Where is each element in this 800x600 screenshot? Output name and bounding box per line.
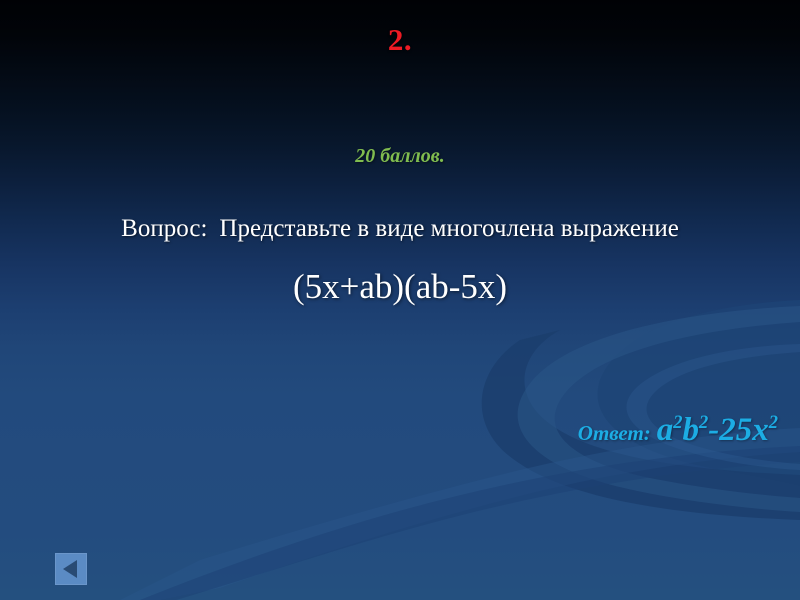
- answer-base-b: b: [683, 412, 700, 448]
- answer-exponent-b: 2: [699, 412, 708, 432]
- question-text: Представьте в виде многочлена выражение: [219, 215, 678, 242]
- question-line: Вопрос:Представьте в виде многочлена выр…: [0, 215, 800, 243]
- answer-line: Ответ:a2b2-25x2: [578, 412, 778, 449]
- answer-label: Ответ:: [578, 421, 651, 445]
- presentation-slide: 2. 20 баллов. Вопрос:Представьте в виде …: [0, 0, 800, 600]
- answer-value: a2b2-25x2: [657, 412, 778, 448]
- page-title: 2.: [0, 22, 800, 58]
- back-button[interactable]: [55, 553, 87, 585]
- back-triangle-icon: [63, 560, 77, 578]
- answer-base-x: x: [752, 412, 769, 448]
- answer-middle-term: -25: [708, 412, 752, 448]
- answer-base-a: a: [657, 412, 674, 448]
- answer-exponent-x: 2: [769, 412, 778, 432]
- score-label: 20 баллов.: [0, 145, 800, 168]
- answer-exponent-a: 2: [673, 412, 682, 432]
- question-label: Вопрос:: [121, 215, 207, 242]
- math-expression: (5x+ab)(ab-5x): [0, 267, 800, 307]
